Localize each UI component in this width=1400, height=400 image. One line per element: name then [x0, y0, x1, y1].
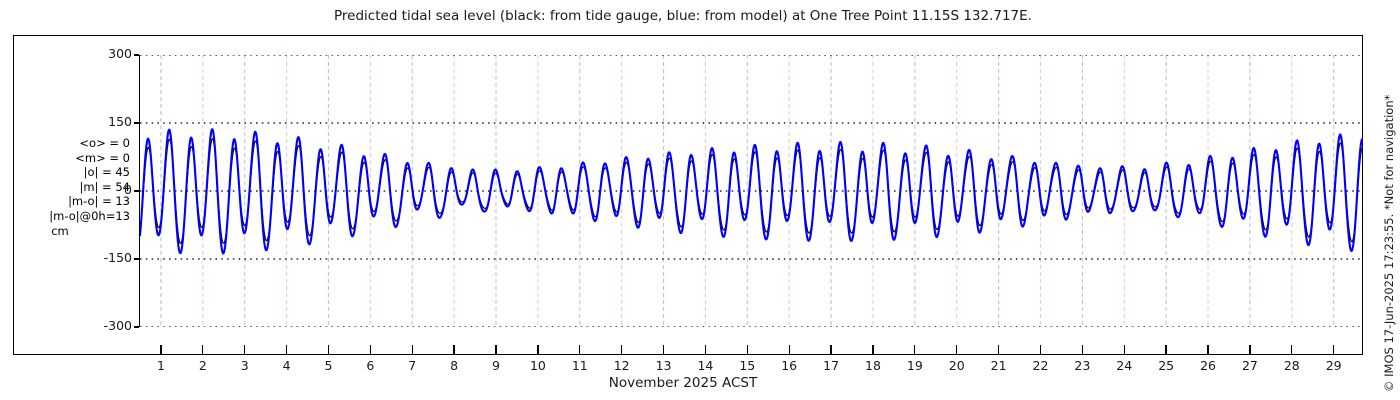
- x-axis-title: November 2025 ACST: [0, 375, 1366, 391]
- y-tick-mark: [134, 122, 139, 123]
- x-tick-label: 21: [979, 358, 1019, 373]
- x-tick-mark: [1291, 345, 1292, 354]
- x-tick-label: 24: [1104, 358, 1144, 373]
- x-tick-mark: [914, 345, 915, 354]
- stat-rms-diff: |m-o| = 13: [8, 194, 130, 209]
- x-tick-mark: [1040, 345, 1041, 354]
- x-tick-mark: [286, 345, 287, 354]
- x-tick-label: 15: [727, 358, 767, 373]
- x-tick-label: 13: [644, 358, 684, 373]
- x-tick-mark: [663, 345, 664, 354]
- stat-mean-model: <m> = 0: [8, 151, 130, 166]
- x-tick-mark: [956, 345, 957, 354]
- x-tick-mark: [160, 345, 161, 354]
- stat-rms-model: |m| = 54: [8, 180, 130, 195]
- y-tick-label: -150: [104, 252, 132, 264]
- x-tick-mark: [621, 345, 622, 354]
- x-tick-mark: [998, 345, 999, 354]
- x-tick-mark: [1082, 345, 1083, 354]
- y-axis-line: [139, 55, 140, 327]
- x-tick-mark: [202, 345, 203, 354]
- x-tick-label: 16: [769, 358, 809, 373]
- x-tick-mark: [244, 345, 245, 354]
- x-tick-mark: [789, 345, 790, 354]
- y-tick-mark: [134, 190, 139, 191]
- x-tick-mark: [872, 345, 873, 354]
- x-tick-mark: [747, 345, 748, 354]
- x-tick-mark: [705, 345, 706, 354]
- y-tick-label: 300: [108, 48, 132, 60]
- chart-title: Predicted tidal sea level (black: from t…: [0, 8, 1366, 24]
- x-tick-label: 9: [476, 358, 516, 373]
- x-tick-label: 3: [225, 358, 265, 373]
- x-tick-label: 5: [308, 358, 348, 373]
- stat-rms-diff-0h: |m-o|@0h=13: [8, 209, 130, 224]
- x-tick-label: 17: [811, 358, 851, 373]
- x-tick-label: 19: [895, 358, 935, 373]
- y-tick-mark: [134, 54, 139, 55]
- tidal-series-svg: [140, 55, 1363, 327]
- x-tick-label: 14: [685, 358, 725, 373]
- chart-root: Predicted tidal sea level (black: from t…: [0, 0, 1400, 400]
- x-tick-label: 11: [560, 358, 600, 373]
- x-tick-mark: [537, 345, 538, 354]
- x-tick-label: 23: [1062, 358, 1102, 373]
- x-tick-mark: [370, 345, 371, 354]
- x-tick-mark: [579, 345, 580, 354]
- x-tick-mark: [412, 345, 413, 354]
- x-tick-label: 22: [1020, 358, 1060, 373]
- x-tick-mark: [328, 345, 329, 354]
- x-tick-label: 8: [434, 358, 474, 373]
- y-tick-mark: [134, 258, 139, 259]
- x-tick-label: 6: [350, 358, 390, 373]
- x-tick-label: 26: [1188, 358, 1228, 373]
- x-tick-label: 27: [1230, 358, 1270, 373]
- x-tick-label: 10: [518, 358, 558, 373]
- x-tick-label: 4: [267, 358, 307, 373]
- x-tick-mark: [1249, 345, 1250, 354]
- stat-rms-obs: |o| = 45: [8, 165, 130, 180]
- plot-area: [140, 55, 1363, 327]
- x-tick-label: 28: [1272, 358, 1312, 373]
- x-tick-mark: [1333, 345, 1334, 354]
- x-tick-label: 7: [392, 358, 432, 373]
- x-tick-label: 25: [1146, 358, 1186, 373]
- x-tick-label: 18: [853, 358, 893, 373]
- x-tick-label: 29: [1314, 358, 1354, 373]
- x-tick-label: 2: [183, 358, 223, 373]
- x-tick-mark: [1124, 345, 1125, 354]
- x-tick-label: 20: [937, 358, 977, 373]
- x-tick-label: 12: [602, 358, 642, 373]
- y-tick-label: -300: [104, 320, 132, 332]
- x-tick-mark: [1165, 345, 1166, 354]
- x-tick-mark: [453, 345, 454, 354]
- stat-mean-obs: <o> = 0: [8, 136, 130, 151]
- y-tick-label: 150: [108, 116, 132, 128]
- x-tick-label: 1: [141, 358, 181, 373]
- x-axis-line: [140, 354, 1363, 355]
- statistics-block: <o> = 0 <m> = 0 |o| = 45 |m| = 54 |m-o| …: [8, 136, 130, 238]
- credit-text: © IMOS 17-Jun-2025 17:23:55. *Not for na…: [1382, 0, 1400, 392]
- y-tick-label: 0: [124, 184, 132, 196]
- stat-unit: cm: [8, 224, 130, 239]
- x-tick-mark: [1207, 345, 1208, 354]
- x-tick-mark: [495, 345, 496, 354]
- y-tick-mark: [134, 326, 139, 327]
- x-tick-mark: [830, 345, 831, 354]
